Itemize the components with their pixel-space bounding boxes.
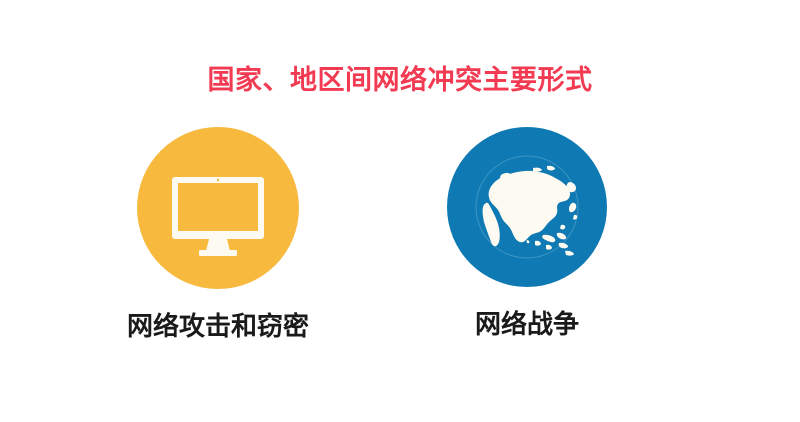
item-cyber-attack[interactable]: 网络攻击和窃密: [108, 127, 328, 344]
page-title: 国家、地区间网络冲突主要形式: [0, 63, 800, 99]
item-label-cyber-warfare: 网络战争: [417, 308, 637, 342]
globe-icon: [447, 127, 607, 287]
slide-canvas: 国家、地区间网络冲突主要形式 网络攻击和窃密: [0, 0, 800, 422]
item-cyber-warfare[interactable]: 网络战争: [417, 127, 637, 342]
item-label-cyber-attack: 网络攻击和窃密: [108, 310, 328, 344]
icon-circle-blue[interactable]: [447, 127, 607, 287]
icon-circle-orange[interactable]: [137, 127, 299, 289]
monitor-icon: [137, 127, 299, 289]
